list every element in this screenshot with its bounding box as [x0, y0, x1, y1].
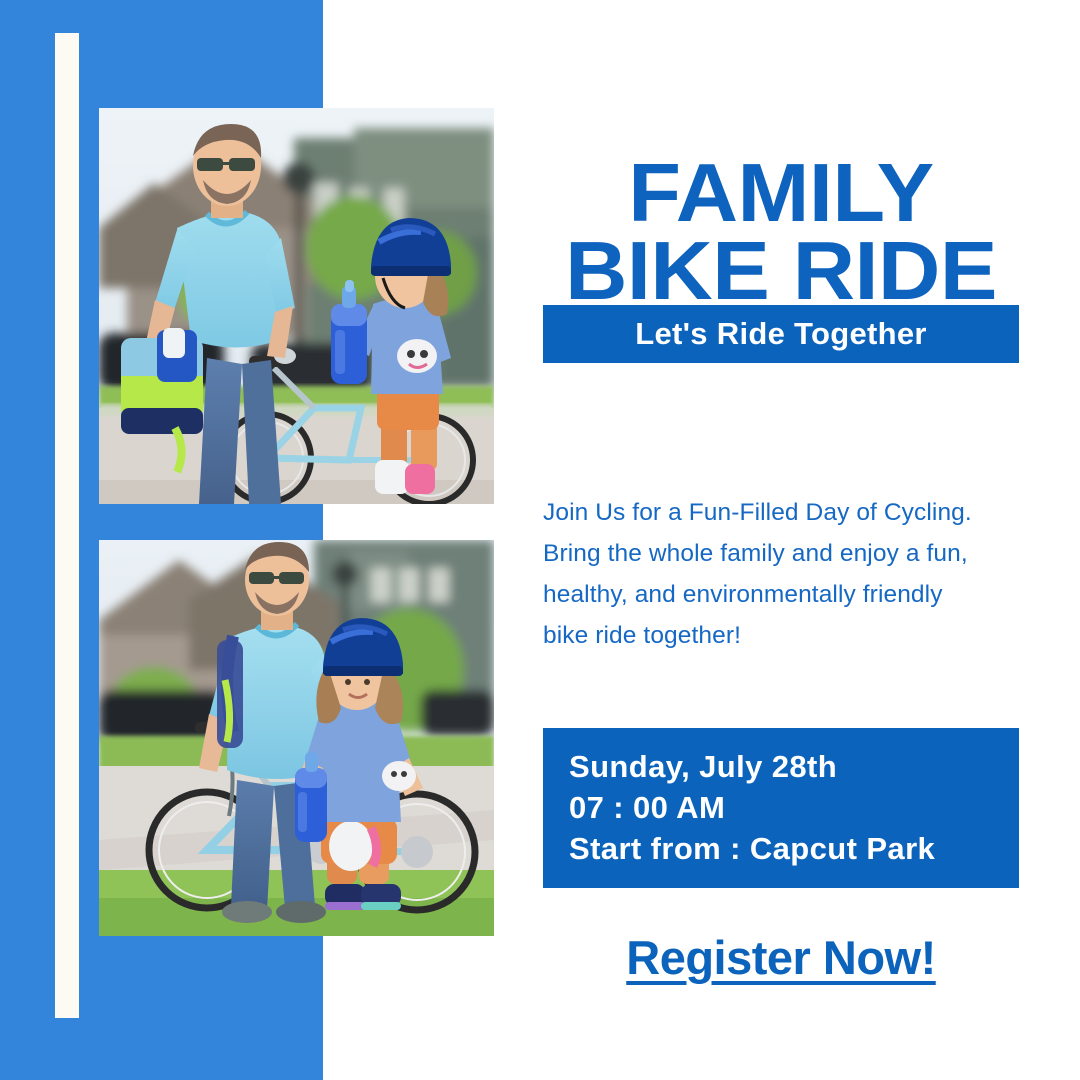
description-line-1: Join Us for a Fun-Filled Day of Cycling. [543, 492, 1019, 533]
description-line-3: healthy, and environmentally friendly [543, 574, 1019, 615]
register-now-link[interactable]: Register Now! [626, 931, 936, 984]
tagline-text: Let's Ride Together [635, 316, 927, 352]
photo-bottom-illustration [99, 540, 494, 936]
photo-family-with-bike-top [99, 108, 494, 504]
event-date: Sunday, July 28th [569, 746, 1019, 787]
description-line-4: bike ride together! [543, 615, 1019, 656]
event-details-block: Sunday, July 28th 07 : 00 AM Start from … [543, 728, 1019, 888]
content-column: FAMILY BIKE RIDE Let's Ride Together Joi… [543, 0, 1019, 1080]
title-line-1: FAMILY [533, 154, 1028, 232]
tagline-banner: Let's Ride Together [543, 305, 1019, 363]
photo-top-illustration [99, 108, 494, 504]
event-location: Start from : Capcut Park [569, 828, 1019, 869]
cta-container: Register Now! [543, 930, 1019, 985]
poster-canvas: FAMILY BIKE RIDE Let's Ride Together Joi… [0, 0, 1080, 1080]
cream-accent-stripe [55, 33, 79, 1018]
photo-family-with-bike-bottom [99, 540, 494, 936]
page-title: FAMILY BIKE RIDE [533, 154, 1028, 310]
description-block: Join Us for a Fun-Filled Day of Cycling.… [543, 492, 1019, 656]
title-line-2: BIKE RIDE [533, 232, 1028, 310]
description-line-2: Bring the whole family and enjoy a fun, [543, 533, 1019, 574]
event-time: 07 : 00 AM [569, 787, 1019, 828]
